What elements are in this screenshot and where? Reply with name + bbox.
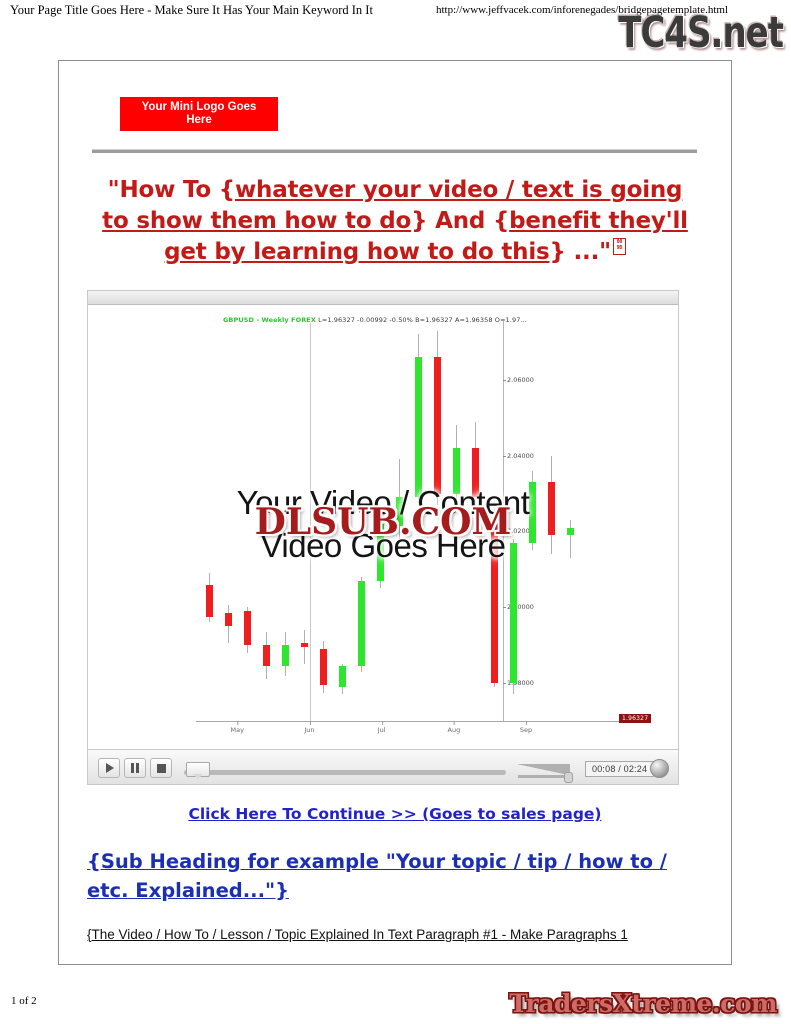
divider [92, 149, 697, 153]
candle-body [301, 643, 308, 647]
stop-button[interactable] [150, 758, 172, 778]
page-url: http://www.jeffvacek.com/inforenegades/b… [436, 4, 728, 16]
headline-part2: } And { [411, 208, 509, 234]
mini-logo-line1: Your Mini Logo Goes [142, 101, 257, 114]
video-stage[interactable]: GBPUSD - Weekly FOREX L=1.96327 -0.00992… [88, 305, 678, 749]
headline-part1: "How To { [108, 177, 235, 203]
chart-y-tick: 2.04000 [507, 452, 534, 460]
headline-part3: } ..." [550, 239, 611, 265]
chart-x-tick: Sep [520, 726, 532, 734]
print-header: Your Page Title Goes Here - Make Sure It… [0, 0, 791, 26]
candle-body [320, 649, 327, 685]
chart-last-price-tag: 1.96327 [619, 714, 651, 723]
progress-handle[interactable] [186, 762, 210, 777]
sub-heading: {Sub Heading for example "Your topic / t… [87, 847, 705, 905]
player-controls[interactable]: 00:08 / 02:24 [88, 749, 678, 784]
video-placeholder-text: Your Video / Content Video Goes Here [88, 481, 678, 567]
chart-x-tick: May [231, 726, 244, 734]
candle-body [434, 357, 441, 493]
fullscreen-orb-button[interactable] [650, 759, 669, 778]
play-icon [106, 763, 114, 773]
volume-slider[interactable] [518, 764, 570, 778]
candle-body [263, 645, 270, 666]
pause-icon [131, 763, 139, 773]
candle-body [206, 585, 213, 617]
candle-body [282, 645, 289, 666]
mini-logo-line2: Here [186, 114, 212, 127]
missing-glyph-icon: 00 9D [613, 238, 626, 255]
chart-x-tick: Aug [448, 726, 461, 734]
mini-logo: Your Mini Logo Goes Here [120, 97, 278, 131]
candle-body [358, 581, 365, 666]
candle-body [339, 666, 346, 687]
candle-body [225, 613, 232, 626]
chart-x-tick: Jul [378, 726, 386, 734]
chart-x-tick: Jun [304, 726, 314, 734]
player-topbar [88, 291, 678, 305]
candle-body [244, 611, 251, 645]
body-paragraph: {The Video / How To / Lesson / Topic Exp… [87, 927, 705, 942]
headline: "How To {whatever your video / text is g… [93, 175, 697, 268]
progress-bar[interactable] [184, 770, 506, 775]
page-title: Your Page Title Goes Here - Make Sure It… [10, 3, 373, 18]
video-placeholder-line1: Your Video / Content [88, 481, 678, 524]
time-display: 00:08 / 02:24 [585, 761, 654, 777]
candle-wick [304, 630, 305, 664]
play-button[interactable] [98, 758, 120, 778]
pause-button[interactable] [124, 758, 146, 778]
continue-link[interactable]: Click Here To Continue >> (Goes to sales… [85, 805, 705, 823]
page-number: 1 of 2 [11, 995, 37, 1007]
tradersxtreme-logo: TradersXtreme.com [509, 989, 777, 1018]
chart-y-tick: 2.06000 [507, 376, 534, 384]
volume-knob[interactable] [564, 772, 573, 783]
video-player[interactable]: GBPUSD - Weekly FOREX L=1.96327 -0.00992… [87, 290, 679, 785]
candle-body [415, 357, 422, 497]
stop-icon [157, 764, 166, 773]
video-placeholder-line2: Video Goes Here [88, 524, 678, 567]
chart-x-axis [196, 721, 636, 722]
page-sheet: Your Mini Logo Goes Here "How To {whatev… [58, 60, 732, 965]
